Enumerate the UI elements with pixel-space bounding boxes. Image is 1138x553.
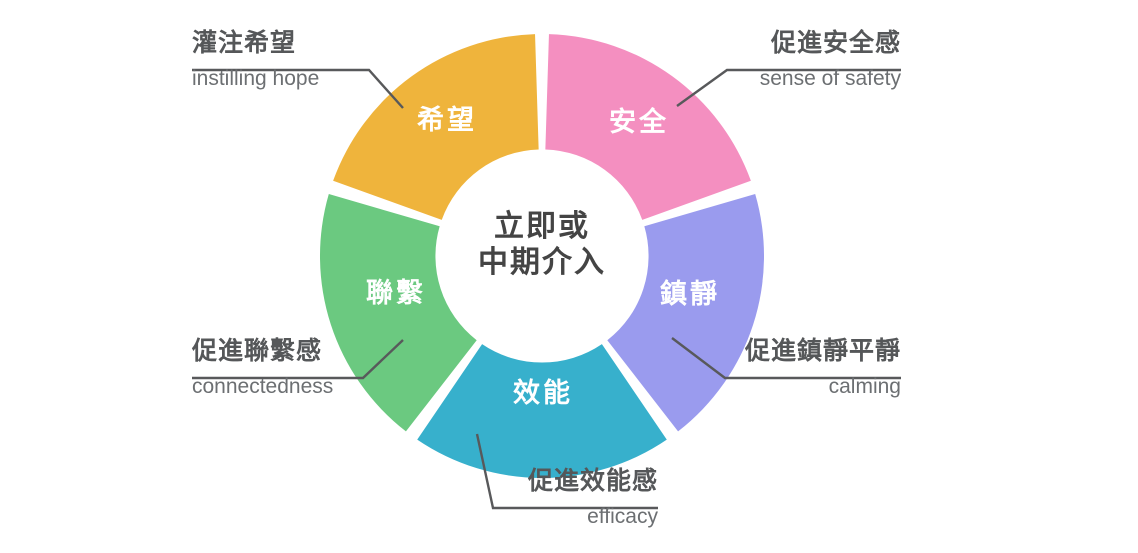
callout-efficacy-en: efficacy bbox=[398, 502, 658, 532]
center-title-line1: 立即或 bbox=[494, 209, 590, 244]
segment-label-safety: 安全 bbox=[609, 106, 669, 138]
callout-calming-en: calming bbox=[641, 372, 901, 402]
segment-label-efficacy: 效能 bbox=[513, 377, 573, 409]
diagram-canvas: 希望 安全 鎮靜 效能 聯繫 立即或 中期介入 灌注希望 instilling … bbox=[0, 0, 1138, 553]
callout-hope: 灌注希望 instilling hope bbox=[192, 26, 452, 94]
callout-connectedness-en: connectedness bbox=[192, 372, 452, 402]
segment-label-connectedness: 聯繫 bbox=[366, 278, 426, 309]
segment-label-hope: 希望 bbox=[417, 105, 477, 136]
callout-efficacy-cn: 促進效能感 bbox=[398, 464, 658, 498]
callout-connectedness: 促進聯繫感 connectedness bbox=[192, 334, 452, 402]
callout-calming-cn: 促進鎮靜平靜 bbox=[641, 334, 901, 368]
center-title-line2: 中期介入 bbox=[478, 245, 606, 280]
callout-connectedness-cn: 促進聯繫感 bbox=[192, 334, 452, 368]
callout-safety-en: sense of safety bbox=[641, 64, 901, 94]
segment-label-calming: 鎮靜 bbox=[660, 278, 720, 310]
callout-safety-cn: 促進安全感 bbox=[641, 26, 901, 60]
callout-safety: 促進安全感 sense of safety bbox=[641, 26, 901, 94]
callout-hope-cn: 灌注希望 bbox=[192, 26, 452, 60]
callout-hope-en: instilling hope bbox=[192, 64, 452, 94]
callout-calming: 促進鎮靜平靜 calming bbox=[641, 334, 901, 402]
callout-efficacy: 促進效能感 efficacy bbox=[398, 464, 658, 532]
